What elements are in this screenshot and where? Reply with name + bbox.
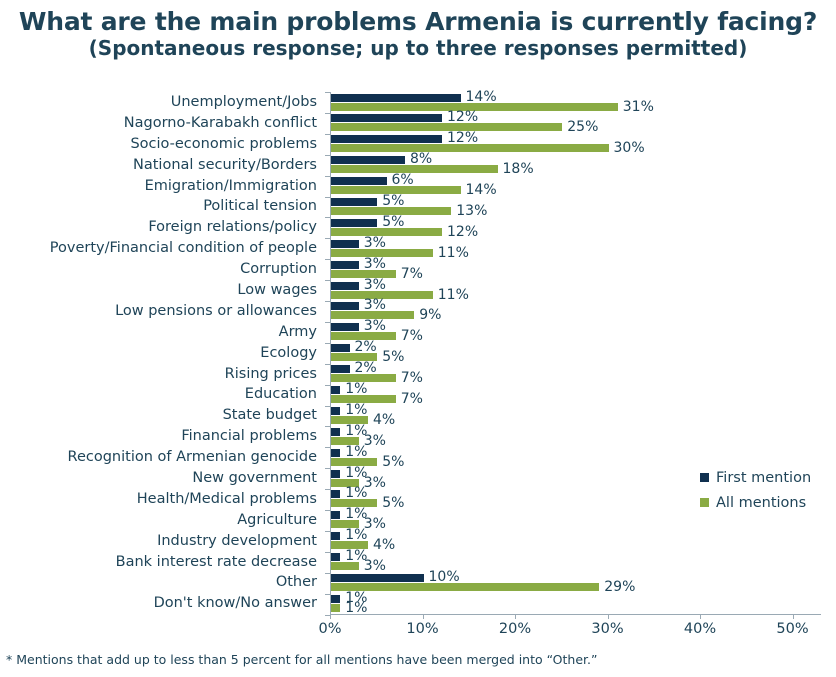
bar-first-mention[interactable]: [331, 449, 340, 457]
category-label: Emigration/Immigration: [0, 176, 326, 197]
bar-value-label: 5%: [382, 498, 404, 509]
bar-value-label: 12%: [447, 112, 478, 123]
chart-legend: First mentionAll mentions: [700, 465, 811, 515]
category-tick: [325, 176, 330, 177]
category-tick: [325, 573, 330, 574]
x-axis-tick-label: 10%: [406, 621, 438, 637]
bar-first-mention[interactable]: [331, 532, 340, 540]
bar-value-label: 5%: [382, 352, 404, 363]
legend-swatch-icon: [700, 473, 709, 482]
bar-first-mention[interactable]: [331, 407, 340, 415]
category-tick: [325, 489, 330, 490]
x-axis-tick: [700, 614, 701, 619]
bar-value-label: 2%: [355, 363, 377, 374]
bar-value-label: 18%: [503, 164, 534, 175]
category-label: Low wages: [0, 280, 326, 301]
bar-first-mention[interactable]: [331, 553, 340, 561]
bar-group: 12%25%: [331, 113, 821, 134]
category-label: Don't know/No answer: [0, 593, 326, 614]
category-label: Low pensions or allowances: [0, 301, 326, 322]
x-axis-tick: [515, 614, 516, 619]
bar-value-label: 13%: [456, 206, 487, 217]
bar-all-mention[interactable]: [331, 583, 599, 591]
bar-value-label: 3%: [364, 478, 386, 489]
page-subtitle: (Spontaneous response; up to three respo…: [0, 37, 836, 60]
category-tick: [325, 113, 330, 114]
category-tick: [325, 510, 330, 511]
bar-group: 3%11%: [331, 238, 821, 259]
bar-first-mention[interactable]: [331, 323, 359, 331]
category-label: Health/Medical problems: [0, 489, 326, 510]
category-tick: [325, 155, 330, 156]
bar-first-mention[interactable]: [331, 219, 377, 227]
category-tick: [325, 426, 330, 427]
bar-first-mention[interactable]: [331, 261, 359, 269]
bar-first-mention[interactable]: [331, 240, 359, 248]
category-label: Education: [0, 384, 326, 405]
category-label: National security/Borders: [0, 155, 326, 176]
bar-first-mention[interactable]: [331, 198, 377, 206]
bar-first-mention[interactable]: [331, 365, 350, 373]
category-tick: [325, 594, 330, 595]
category-label: Nagorno-Karabakh conflict: [0, 113, 326, 134]
bar-first-mention[interactable]: [331, 302, 359, 310]
bar-first-mention[interactable]: [331, 135, 442, 143]
bar-value-label: 1%: [345, 603, 367, 614]
category-tick: [325, 280, 330, 281]
legend-swatch-icon: [700, 498, 709, 507]
legend-label: First mention: [716, 470, 811, 486]
bar-value-label: 29%: [604, 582, 635, 593]
bar-group: 1%3%: [331, 552, 821, 573]
category-label: Rising prices: [0, 364, 326, 385]
bar-first-mention[interactable]: [331, 94, 461, 102]
legend-label: All mentions: [716, 495, 806, 511]
bar-group: 1%3%: [331, 426, 821, 447]
bar-first-mention[interactable]: [331, 490, 340, 498]
category-label: Industry development: [0, 531, 326, 552]
bar-value-label: 9%: [419, 310, 441, 321]
category-tick: [325, 322, 330, 323]
bar-all-mention[interactable]: [331, 228, 442, 236]
category-tick: [325, 238, 330, 239]
bar-first-mention[interactable]: [331, 428, 340, 436]
bar-value-label: 1%: [345, 384, 367, 395]
bar-value-label: 5%: [382, 457, 404, 468]
bar-group: 3%9%: [331, 301, 821, 322]
bars-container: 14%31%12%25%12%30%8%18%6%14%5%13%5%12%3%…: [331, 92, 821, 614]
bar-group: 3%7%: [331, 322, 821, 343]
bar-value-label: 4%: [373, 415, 395, 426]
x-axis-line: [330, 614, 821, 615]
x-axis-tick-label: 0%: [318, 621, 341, 637]
bar-value-label: 1%: [345, 530, 367, 541]
category-tick: [325, 259, 330, 260]
bar-value-label: 8%: [410, 154, 432, 165]
bar-value-label: 5%: [382, 217, 404, 228]
x-axis-tick: [793, 614, 794, 619]
bar-value-label: 3%: [364, 321, 386, 332]
bar-all-mention[interactable]: [331, 562, 359, 570]
x-axis-tick: [608, 614, 609, 619]
bar-value-label: 25%: [567, 122, 598, 133]
bar-group: 3%7%: [331, 259, 821, 280]
bar-first-mention[interactable]: [331, 386, 340, 394]
bar-value-label: 6%: [392, 175, 414, 186]
category-tick: [325, 364, 330, 365]
bar-group: 2%5%: [331, 343, 821, 364]
bar-group: 14%31%: [331, 92, 821, 113]
footnote: * Mentions that add up to less than 5 pe…: [6, 652, 597, 667]
bar-value-label: 3%: [364, 259, 386, 270]
category-tick: [325, 385, 330, 386]
chart-plot-area: Unemployment/JobsNagorno-Karabakh confli…: [0, 92, 836, 637]
x-axis-tick-label: 40%: [684, 621, 716, 637]
bar-value-label: 11%: [438, 290, 469, 301]
x-axis-tick: [423, 614, 424, 619]
bar-group: 1%1%: [331, 593, 821, 614]
legend-item[interactable]: First mention: [700, 465, 811, 490]
bar-value-label: 12%: [447, 227, 478, 238]
category-tick: [325, 406, 330, 407]
bar-value-label: 5%: [382, 196, 404, 207]
category-label: Unemployment/Jobs: [0, 92, 326, 113]
x-axis-tick: [330, 614, 331, 619]
category-label: Agriculture: [0, 510, 326, 531]
category-tick: [325, 447, 330, 448]
bar-value-label: 3%: [364, 280, 386, 291]
bar-value-label: 30%: [614, 143, 645, 154]
bar-group: 5%13%: [331, 196, 821, 217]
bar-group: 5%12%: [331, 217, 821, 238]
bar-value-label: 31%: [623, 102, 654, 113]
bar-value-label: 3%: [364, 300, 386, 311]
category-tick: [325, 301, 330, 302]
bar-group: 1%7%: [331, 384, 821, 405]
category-label: Financial problems: [0, 426, 326, 447]
category-label: New government: [0, 468, 326, 489]
bar-group: 3%11%: [331, 280, 821, 301]
category-tick: [325, 92, 330, 93]
bar-group: 1%4%: [331, 405, 821, 426]
bar-first-mention[interactable]: [331, 114, 442, 122]
x-axis-tick-label: 20%: [499, 621, 531, 637]
bar-value-label: 7%: [401, 269, 423, 280]
bar-all-mention[interactable]: [331, 144, 609, 152]
x-axis-tick-label: 30%: [591, 621, 623, 637]
bar-group: 1%4%: [331, 531, 821, 552]
bar-value-label: 14%: [466, 185, 497, 196]
category-label: Bank interest rate decrease: [0, 552, 326, 573]
bar-value-label: 1%: [345, 488, 367, 499]
bar-first-mention[interactable]: [331, 470, 340, 478]
bar-first-mention[interactable]: [331, 344, 350, 352]
category-tick: [325, 531, 330, 532]
category-tick: [325, 552, 330, 553]
bar-value-label: 3%: [364, 436, 386, 447]
bar-value-label: 3%: [364, 561, 386, 572]
bar-value-label: 11%: [438, 248, 469, 259]
title-block: What are the main problems Armenia is cu…: [0, 0, 836, 60]
bar-value-label: 1%: [345, 447, 367, 458]
bar-group: 2%7%: [331, 364, 821, 385]
x-axis-tick-label: 50%: [776, 621, 808, 637]
bar-value-label: 3%: [364, 238, 386, 249]
bar-value-label: 7%: [401, 373, 423, 384]
category-label: Corruption: [0, 259, 326, 280]
bar-group: 12%30%: [331, 134, 821, 155]
bar-group: 6%14%: [331, 176, 821, 197]
bar-value-label: 1%: [345, 405, 367, 416]
bar-first-mention[interactable]: [331, 511, 340, 519]
bar-value-label: 4%: [373, 540, 395, 551]
page-title: What are the main problems Armenia is cu…: [0, 8, 836, 36]
category-tick: [325, 343, 330, 344]
category-label: State budget: [0, 405, 326, 426]
category-label: Foreign relations/policy: [0, 217, 326, 238]
category-tick: [325, 197, 330, 198]
category-axis: Unemployment/JobsNagorno-Karabakh confli…: [0, 92, 326, 614]
category-label: Socio-economic problems: [0, 134, 326, 155]
bar-first-mention[interactable]: [331, 282, 359, 290]
bar-value-label: 10%: [429, 572, 460, 583]
bar-value-label: 7%: [401, 331, 423, 342]
bar-value-label: 14%: [466, 92, 497, 103]
bar-value-label: 7%: [401, 394, 423, 405]
category-label: Poverty/Financial condition of people: [0, 238, 326, 259]
category-tick: [325, 134, 330, 135]
category-label: Other: [0, 572, 326, 593]
legend-item[interactable]: All mentions: [700, 490, 811, 515]
bar-value-label: 2%: [355, 342, 377, 353]
bar-value-label: 12%: [447, 133, 478, 144]
bar-first-mention[interactable]: [331, 595, 340, 603]
category-label: Political tension: [0, 196, 326, 217]
category-label: Recognition of Armenian genocide: [0, 447, 326, 468]
category-label: Ecology: [0, 343, 326, 364]
bar-first-mention[interactable]: [331, 156, 405, 164]
bar-first-mention[interactable]: [331, 177, 387, 185]
category-label: Army: [0, 322, 326, 343]
bar-value-label: 3%: [364, 519, 386, 530]
bar-all-mention[interactable]: [331, 165, 498, 173]
bar-group: 10%29%: [331, 572, 821, 593]
bar-all-mention[interactable]: [331, 604, 340, 612]
category-tick: [325, 217, 330, 218]
bar-first-mention[interactable]: [331, 574, 424, 582]
category-tick: [325, 468, 330, 469]
